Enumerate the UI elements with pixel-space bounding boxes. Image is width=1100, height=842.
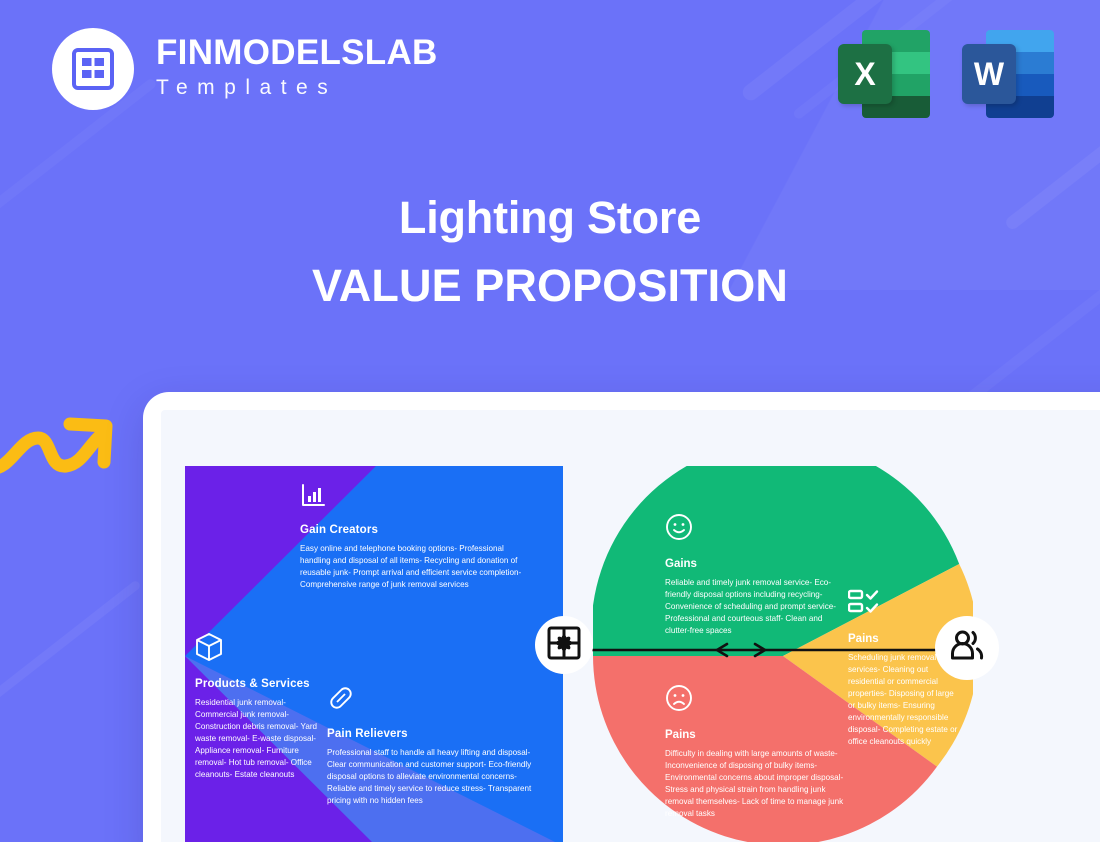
smiley-face-icon [665,513,841,546]
slide-screen: Gain Creators Easy online and telephone … [161,410,1100,842]
pain-relievers-title: Pain Relievers [327,728,542,740]
excel-letter-tile: X [838,44,892,104]
pains-bottom-body: Difficulty in dealing with large amounts… [665,748,850,820]
gift-box-icon [547,626,581,665]
pain-relievers-block: Pain Relievers Professional staff to han… [327,684,542,807]
gain-creators-title: Gain Creators [300,524,528,536]
pains-bottom-block: Pains Difficulty in dealing with large a… [665,684,850,820]
value-map-panel: Gain Creators Easy online and telephone … [185,466,563,842]
squiggle-arrow-up-right-icon [0,404,122,499]
word-letter: W [974,56,1004,93]
customer-people-icon [948,627,986,670]
customer-profile-hub[interactable] [935,616,999,680]
word-letter-tile: W [962,44,1016,104]
file-format-icons: X W [838,30,1054,118]
brand-header: FINMODELSLAB Templates [52,28,438,110]
checklist-icon [848,588,960,621]
sad-face-icon [665,684,850,717]
package-box-icon [195,632,327,667]
pain-relievers-body: Professional staff to handle all heavy l… [327,747,542,807]
word-icon[interactable]: W [962,30,1054,118]
excel-letter: X [854,56,875,93]
products-services-block: Products & Services Residential junk rem… [195,632,327,781]
brand-lockup: FINMODELSLAB Templates [156,35,438,103]
logo-badge [52,28,134,110]
gains-body: Reliable and timely junk removal service… [665,577,841,637]
bar-chart-icon [300,482,528,513]
slide-canvas: FINMODELSLAB Templates X [0,0,1100,842]
products-services-title: Products & Services [195,678,327,690]
fit-arrow-connector [559,642,941,658]
page-title: Lighting Store [0,190,1100,246]
excel-icon[interactable]: X [838,30,930,118]
pains-bottom-title: Pains [665,729,850,741]
grid-squares-icon [71,47,115,91]
title-block: Lighting Store VALUE PROPOSITION [0,190,1100,315]
brush-stroke-decor [0,579,142,709]
gains-title: Gains [665,558,841,570]
products-services-body: Residential junk removal- Commercial jun… [195,697,327,781]
device-mockup: Gain Creators Easy online and telephone … [143,392,1100,842]
brand-name: FINMODELSLAB [156,35,438,72]
brand-subtitle: Templates [156,72,438,104]
pill-icon [327,684,542,717]
gain-creators-block: Gain Creators Easy online and telephone … [300,482,528,591]
gain-creators-body: Easy online and telephone booking option… [300,543,528,591]
value-map-hub[interactable] [535,616,593,674]
gains-block: Gains Reliable and timely junk removal s… [665,513,841,637]
page-subtitle: VALUE PROPOSITION [0,258,1100,314]
